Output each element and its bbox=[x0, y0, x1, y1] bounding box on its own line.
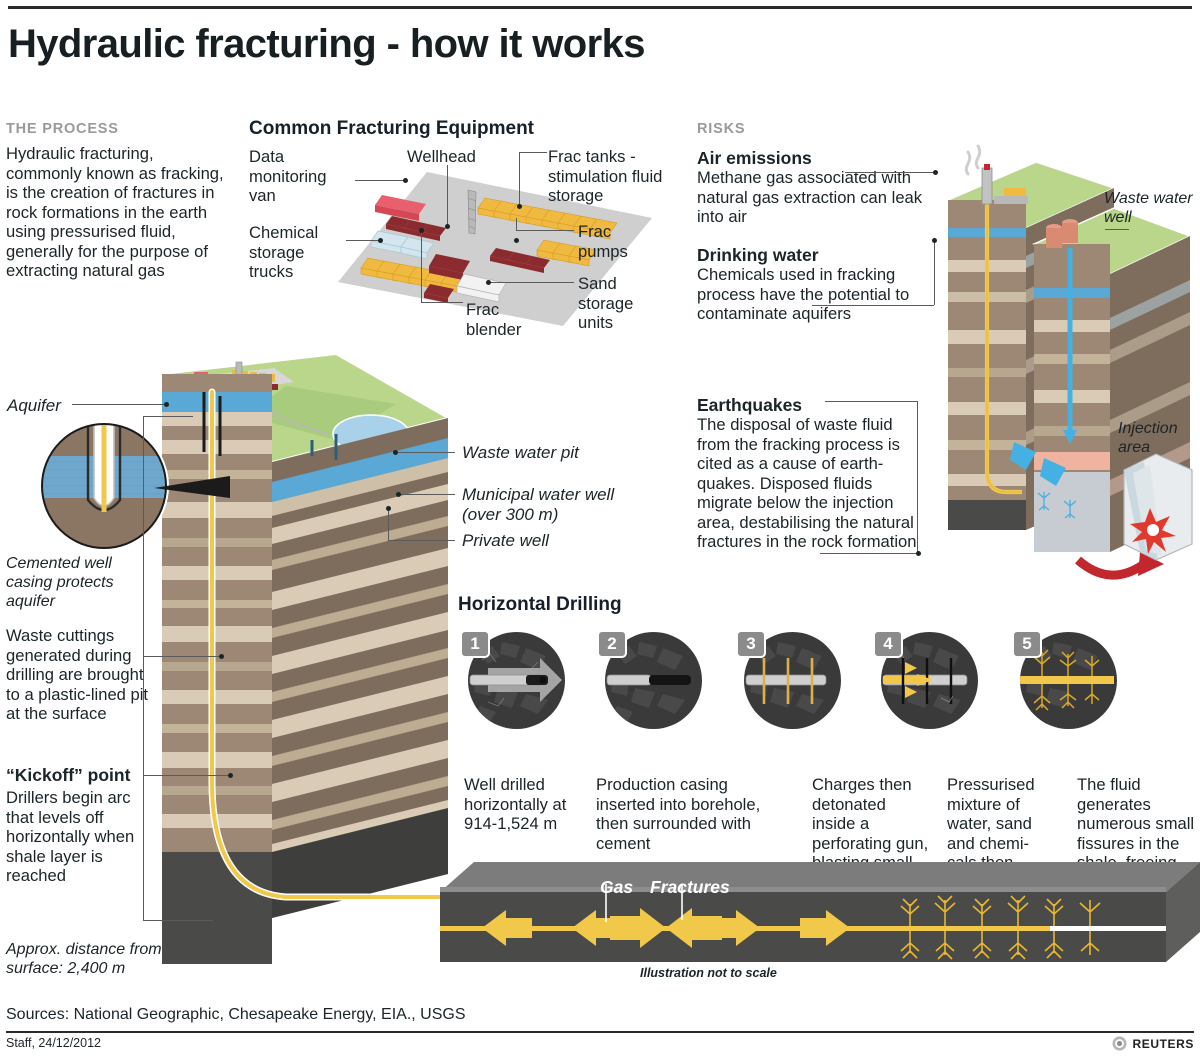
step-badge-2: 2 bbox=[597, 630, 627, 658]
leader-line-blender-v bbox=[421, 230, 422, 302]
page-title: Hydraulic fracturing - how it works bbox=[8, 22, 908, 67]
sources-line: Sources: National Geographic, Chesapeake… bbox=[6, 1006, 466, 1024]
risk-air-emissions: Air emissions Methane gas associated wit… bbox=[697, 148, 929, 227]
leader-line-waste-pit bbox=[397, 452, 455, 453]
step-badge-1: 1 bbox=[460, 630, 490, 658]
label-private-well: Private well bbox=[462, 531, 549, 551]
equipment-label-sand-units: Sand storage units bbox=[578, 274, 658, 333]
label-municipal-well: Municipal water well (over 300 m) bbox=[462, 485, 652, 524]
leader-dot-waste-pit bbox=[393, 450, 398, 455]
equipment-label-wellhead: Wellhead bbox=[407, 147, 476, 167]
slab-label-gas: Gas bbox=[600, 877, 633, 898]
label-waste-cuttings: Waste cuttings generated during drilling… bbox=[6, 626, 156, 724]
label-injection-area: Injection area bbox=[1118, 419, 1198, 457]
leader-line-waste-well-h bbox=[1105, 229, 1129, 230]
leader-dot-municipal bbox=[396, 492, 401, 497]
leader-line-drinking-water-h bbox=[812, 305, 934, 306]
shale-slab-diagram bbox=[440, 862, 1200, 974]
label-cemented-casing: Cemented well casing protects aquifer bbox=[6, 554, 156, 611]
leader-dot-wellhead bbox=[445, 224, 450, 229]
reuters-logo: REUTERS bbox=[1112, 1036, 1194, 1051]
leader-dot-data-van bbox=[403, 178, 408, 183]
staff-credit: Staff, 24/12/2012 bbox=[6, 1036, 101, 1050]
step-caption-2: Production casing inserted into borehole… bbox=[596, 775, 774, 853]
leader-line-data-van bbox=[355, 180, 405, 181]
risk-body: Methane gas associated with natural gas … bbox=[697, 168, 929, 227]
label-waste-water-pit: Waste water pit bbox=[462, 443, 579, 463]
equipment-label-frac-pumps: Frac pumps bbox=[578, 222, 658, 261]
leader-line-pumps-v bbox=[516, 218, 517, 230]
slab-label-fractures: Fractures bbox=[650, 877, 730, 898]
label-kickoff-title: “Kickoff” point bbox=[6, 765, 130, 786]
risk-earthquakes: Earthquakes The disposal of waste fluid … bbox=[697, 395, 919, 552]
leader-dot-pumps bbox=[514, 238, 519, 243]
risk-title: Drinking water bbox=[697, 245, 912, 265]
step-badge-4: 4 bbox=[873, 630, 903, 658]
leader-dot-aquifer bbox=[164, 402, 169, 407]
leader-line-municipal bbox=[400, 494, 455, 495]
leader-dot-waste-cuttings bbox=[219, 654, 224, 659]
section-kicker-process: THE PROCESS bbox=[6, 121, 119, 137]
risk-body: The disposal of waste fluid from the fra… bbox=[697, 415, 919, 552]
label-waste-water-well: Waste water well bbox=[1104, 189, 1200, 227]
equipment-heading: Common Fracturing Equipment bbox=[249, 118, 534, 140]
section-kicker-risks: RISKS bbox=[697, 121, 745, 137]
reuters-wordmark: REUTERS bbox=[1132, 1037, 1194, 1051]
equipment-label-frac-tanks: Frac tanks - stimulation fluid storage bbox=[548, 147, 668, 206]
leader-line-earthquakes-bottom bbox=[820, 553, 918, 554]
risk-drinking-water: Drinking water Chemicals used in frackin… bbox=[697, 245, 912, 324]
leader-line-chemical bbox=[346, 240, 380, 241]
slab-note-not-to-scale: Illustration not to scale bbox=[640, 966, 777, 980]
leader-line-blender-h bbox=[421, 302, 463, 303]
leader-line-frac-tanks-v bbox=[519, 152, 520, 206]
footer-rule bbox=[6, 1031, 1194, 1033]
equipment-label-chemical: Chemical storage trucks bbox=[249, 223, 349, 282]
leader-dot-blender bbox=[419, 228, 424, 233]
risk-title: Air emissions bbox=[697, 148, 929, 168]
step-badge-3: 3 bbox=[736, 630, 766, 658]
label-aquifer: Aquifer bbox=[7, 396, 61, 416]
reuters-globe-icon bbox=[1112, 1036, 1127, 1051]
leader-line-kickoff bbox=[143, 775, 231, 776]
leader-line-wellhead bbox=[447, 165, 448, 227]
magnifier-pointer bbox=[152, 470, 232, 518]
leader-dot-private bbox=[386, 506, 391, 511]
equipment-label-blender: Frac blender bbox=[466, 300, 546, 339]
leader-line-pumps-h bbox=[516, 230, 574, 231]
leader-line-casing-h bbox=[143, 416, 193, 417]
top-rule bbox=[8, 6, 1192, 9]
equipment-label-data-van: Data monitoring van bbox=[249, 147, 344, 206]
infographic-page: Hydraulic fracturing - how it works THE … bbox=[0, 0, 1200, 1059]
label-kickoff-body: Drillers begin arc that levels off horiz… bbox=[6, 788, 156, 886]
leader-line-earthquakes-top bbox=[825, 401, 918, 402]
casing-magnifier-inset bbox=[38, 420, 170, 552]
depth-scale-bottom-tick bbox=[143, 920, 213, 921]
process-description: Hydraulic fracturing, commonly known as … bbox=[6, 144, 228, 281]
leader-dot-frac-tanks bbox=[517, 204, 522, 209]
leader-line-sand bbox=[490, 282, 574, 283]
risk-body: Chemicals used in fracking process have … bbox=[697, 265, 912, 324]
step-caption-1: Well drilled horizontally at 914-1,524 m bbox=[464, 775, 576, 834]
leader-line-frac-tanks-h bbox=[519, 152, 547, 153]
leader-dot-chemical bbox=[378, 238, 383, 243]
label-approx-distance: Approx. distance from surface: 2,400 m bbox=[6, 940, 216, 978]
risk-title: Earthquakes bbox=[697, 395, 919, 415]
leader-dot-kickoff bbox=[228, 773, 233, 778]
step-badge-5: 5 bbox=[1012, 630, 1042, 658]
leader-line-aquifer bbox=[72, 404, 167, 405]
horizontal-drilling-heading: Horizontal Drilling bbox=[458, 594, 622, 616]
leader-line-private-h bbox=[388, 540, 455, 541]
leader-dot-sand bbox=[486, 280, 491, 285]
leader-line-private-v bbox=[388, 508, 389, 540]
